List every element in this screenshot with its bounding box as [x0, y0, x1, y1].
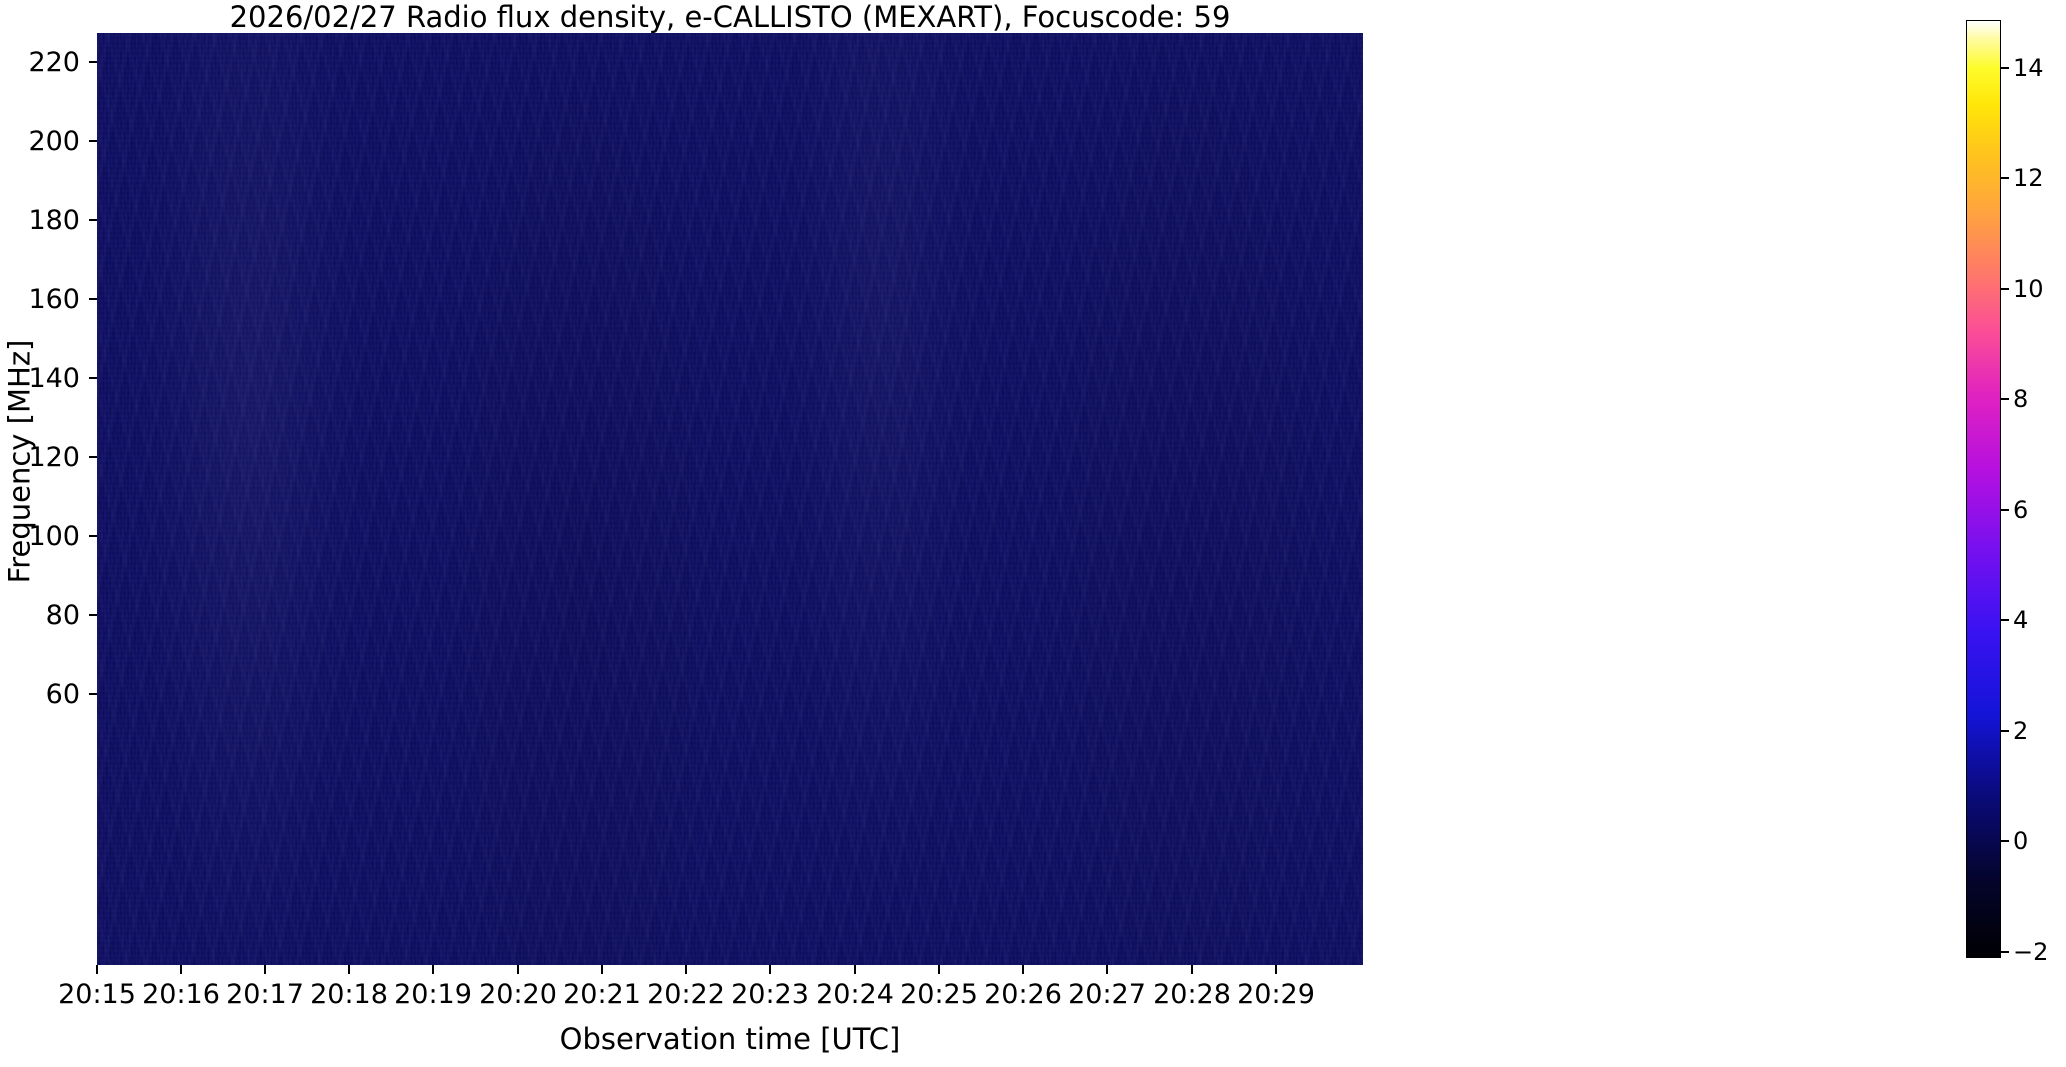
colorbar: [1966, 20, 2001, 958]
y-tick-mark: [89, 61, 97, 63]
y-tick-label: 200: [0, 128, 80, 155]
x-tick-mark: [348, 965, 350, 974]
y-tick-label: 100: [0, 523, 80, 550]
x-tick-mark: [854, 965, 856, 974]
colorbar-tick-mark: [2001, 177, 2009, 179]
y-tick-label: 80: [0, 602, 80, 629]
x-tick-mark: [264, 965, 266, 974]
y-tick-mark: [89, 298, 97, 300]
colorbar-tick-label: 6: [2013, 498, 2028, 522]
x-tick-mark: [1106, 965, 1108, 974]
y-tick-mark: [89, 377, 97, 379]
colorbar-gradient: [1966, 20, 2001, 958]
y-tick-mark: [89, 219, 97, 221]
colorbar-tick-label: 0: [2013, 829, 2028, 853]
x-tick-mark: [938, 965, 940, 974]
spectrogram-figure: 2026/02/27 Radio flux density, e-CALLIST…: [0, 0, 2066, 1067]
colorbar-tick-mark: [2001, 730, 2009, 732]
colorbar-tick-mark: [2001, 288, 2009, 290]
x-tick-mark: [432, 965, 434, 974]
colorbar-tick-label: 14: [2013, 56, 2044, 80]
y-tick-mark: [89, 693, 97, 695]
x-tick-mark: [601, 965, 603, 974]
y-tick-label: 120: [0, 444, 80, 471]
y-tick-label: 60: [0, 681, 80, 708]
colorbar-tick-label: 4: [2013, 608, 2028, 632]
y-tick-mark: [89, 140, 97, 142]
y-tick-label: 140: [0, 365, 80, 392]
y-tick-mark: [89, 456, 97, 458]
y-tick-mark: [89, 535, 97, 537]
x-tick-mark: [1022, 965, 1024, 974]
x-tick-mark: [769, 965, 771, 974]
colorbar-tick-mark: [2001, 840, 2009, 842]
spectrogram-plot-area: [97, 33, 1363, 965]
y-tick-mark: [89, 614, 97, 616]
colorbar-tick-mark: [2001, 67, 2009, 69]
x-tick-mark: [96, 965, 98, 974]
y-tick-label: 160: [0, 286, 80, 313]
colorbar-tick-label: −2: [2013, 940, 2048, 964]
colorbar-tick-label: 12: [2013, 166, 2044, 190]
x-tick-label: 20:29: [1216, 981, 1336, 1008]
spectrogram-noise-layer-e: [97, 33, 1363, 965]
y-tick-label: 220: [0, 49, 80, 76]
x-tick-mark: [517, 965, 519, 974]
colorbar-tick-mark: [2001, 619, 2009, 621]
colorbar-tick-label: 8: [2013, 387, 2028, 411]
figure-title: 2026/02/27 Radio flux density, e-CALLIST…: [97, 2, 1363, 32]
x-tick-mark: [1275, 965, 1277, 974]
colorbar-tick-mark: [2001, 951, 2009, 953]
colorbar-tick-mark: [2001, 398, 2009, 400]
colorbar-tick-label: 2: [2013, 719, 2028, 743]
x-tick-mark: [685, 965, 687, 974]
x-axis-label: Observation time [UTC]: [97, 1025, 1363, 1054]
x-tick-mark: [180, 965, 182, 974]
colorbar-tick-label: 10: [2013, 277, 2044, 301]
x-tick-mark: [1191, 965, 1193, 974]
y-tick-label: 180: [0, 207, 80, 234]
colorbar-tick-mark: [2001, 509, 2009, 511]
